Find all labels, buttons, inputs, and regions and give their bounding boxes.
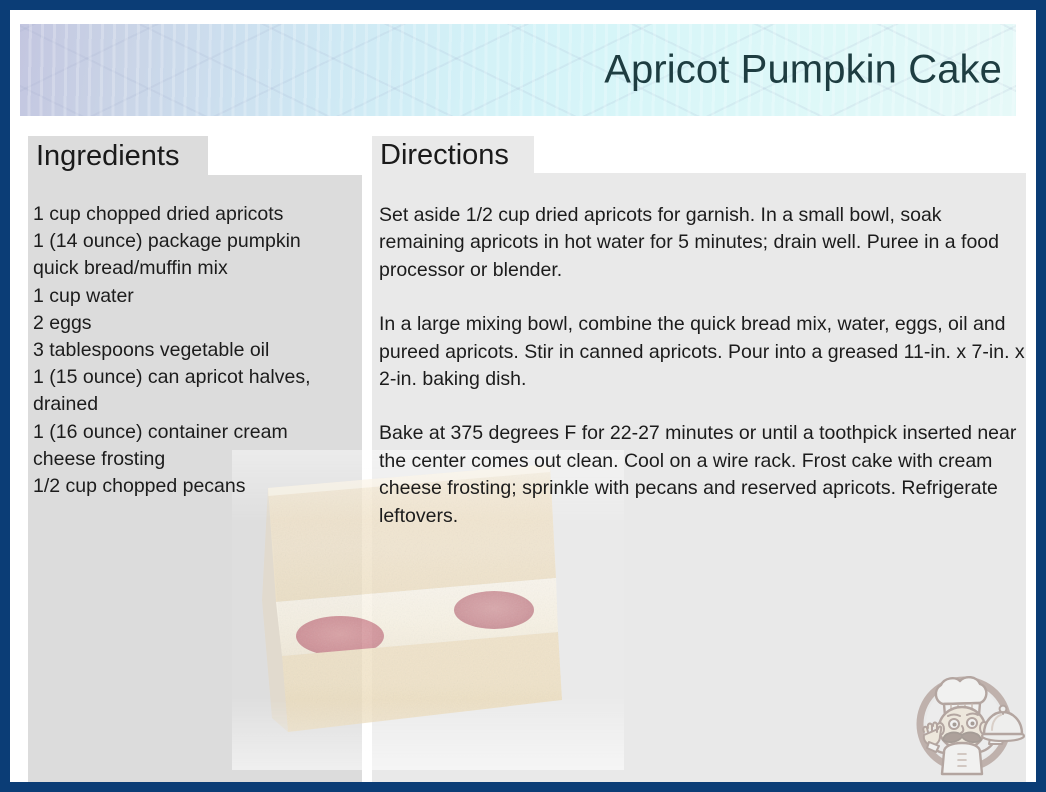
ingredient-item: 1 (15 ounce) can apricot halves, <box>33 364 358 391</box>
direction-paragraph: In a large mixing bowl, combine the quic… <box>379 311 1027 393</box>
directions-heading-label: Directions <box>380 141 509 170</box>
header-banner: Apricot Pumpkin Cake <box>20 24 1016 116</box>
ingredient-item: drained <box>33 391 358 418</box>
directions-heading-tab: Directions <box>372 136 534 174</box>
ingredient-item: cheese frosting <box>33 446 358 473</box>
ingredient-item: quick bread/muffin mix <box>33 255 358 282</box>
directions-body: Set aside 1/2 cup dried apricots for gar… <box>379 202 1027 530</box>
ingredient-item: 1 (14 ounce) package pumpkin <box>33 228 358 255</box>
ingredient-item: 1 cup water <box>33 283 358 310</box>
ingredient-item: 1 cup chopped dried apricots <box>33 201 358 228</box>
ingredient-item: 2 eggs <box>33 310 358 337</box>
ingredients-heading-label: Ingredients <box>36 142 180 171</box>
direction-paragraph: Bake at 375 degrees F for 22-27 minutes … <box>379 420 1027 530</box>
page-title: Apricot Pumpkin Cake <box>604 48 1002 93</box>
recipe-card: Apricot Pumpkin Cake Ingredients Directi… <box>0 0 1046 792</box>
ingredient-item: 1 (16 ounce) container cream <box>33 419 358 446</box>
ingredient-item: 3 tablespoons vegetable oil <box>33 337 358 364</box>
ingredients-heading-tab: Ingredients <box>28 136 208 176</box>
ingredients-list: 1 cup chopped dried apricots 1 (14 ounce… <box>33 201 358 500</box>
ingredient-item: 1/2 cup chopped pecans <box>33 473 358 500</box>
direction-paragraph: Set aside 1/2 cup dried apricots for gar… <box>379 202 1027 284</box>
